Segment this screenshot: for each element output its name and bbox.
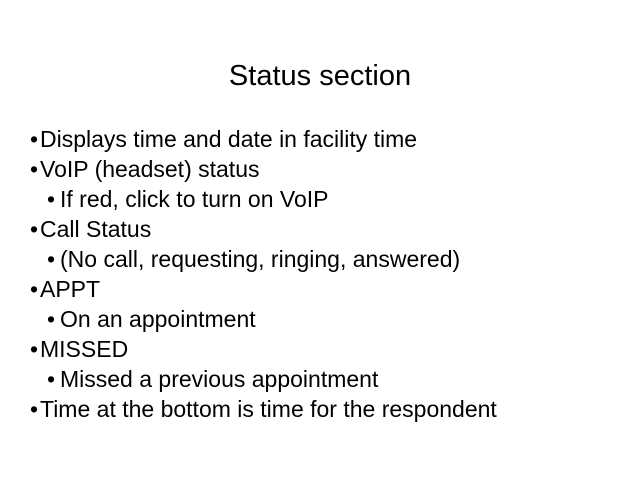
list-item: •MISSED xyxy=(30,334,620,364)
list-item: •Call Status xyxy=(30,214,620,244)
bullet-icon: • xyxy=(30,124,40,154)
bullet-icon: • xyxy=(47,364,60,394)
list-item: •Missed a previous appointment xyxy=(47,364,620,394)
list-item-label: APPT xyxy=(40,276,100,302)
list-item-label: Call Status xyxy=(40,216,151,242)
bullet-icon: • xyxy=(47,244,60,274)
bullet-icon: • xyxy=(47,304,60,334)
slide-canvas: Status section •Displays time and date i… xyxy=(0,0,640,480)
bullet-icon: • xyxy=(30,394,40,424)
list-item: •(No call, requesting, ringing, answered… xyxy=(47,244,620,274)
list-item-label: Time at the bottom is time for the respo… xyxy=(40,396,497,422)
list-item: •APPT xyxy=(30,274,620,304)
bullet-icon: • xyxy=(30,214,40,244)
bullet-icon: • xyxy=(30,334,40,364)
list-item: •Displays time and date in facility time xyxy=(30,124,620,154)
bullet-list: •Displays time and date in facility time… xyxy=(30,124,620,424)
list-item-label: (No call, requesting, ringing, answered) xyxy=(60,246,460,272)
list-item: •On an appointment xyxy=(47,304,620,334)
bullet-icon: • xyxy=(30,274,40,304)
list-item: •Time at the bottom is time for the resp… xyxy=(30,394,620,424)
list-item-label: MISSED xyxy=(40,336,128,362)
list-item-label: On an appointment xyxy=(60,306,256,332)
list-item-label: VoIP (headset) status xyxy=(40,156,260,182)
bullet-icon: • xyxy=(47,184,60,214)
bullet-icon: • xyxy=(30,154,40,184)
list-item-label: Missed a previous appointment xyxy=(60,366,378,392)
list-item-label: Displays time and date in facility time xyxy=(40,126,417,152)
list-item: •If red, click to turn on VoIP xyxy=(47,184,620,214)
list-item-label: If red, click to turn on VoIP xyxy=(60,186,328,212)
list-item: •VoIP (headset) status xyxy=(30,154,620,184)
page-title: Status section xyxy=(0,59,640,93)
